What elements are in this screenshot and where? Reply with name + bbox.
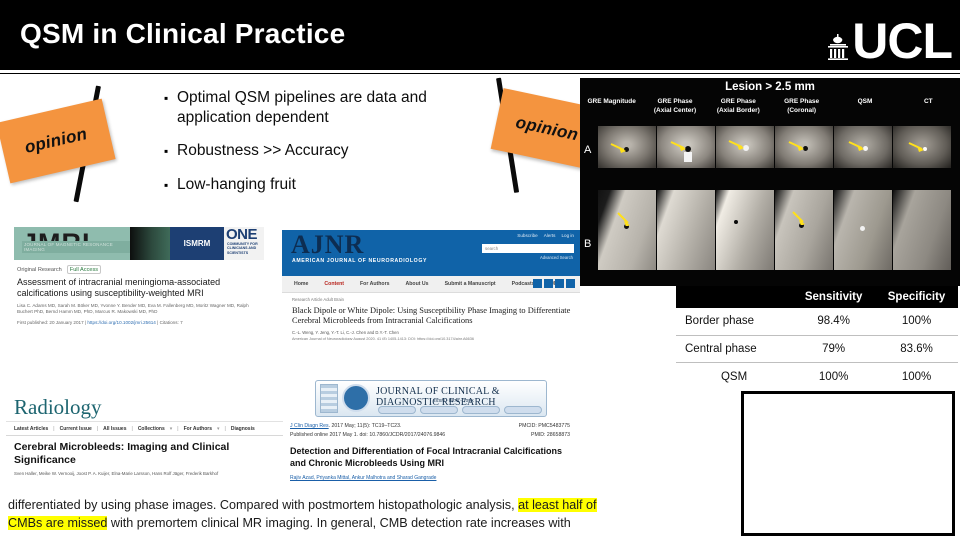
alerts-link[interactable]: Alerts (544, 233, 556, 238)
highlighted-abstract-text: differentiated by using phase images. Co… (8, 496, 598, 532)
sensitivity-specificity-table: Sensitivity Specificity Border phase 98.… (676, 286, 958, 390)
jcdr-doi-link[interactable]: 10.7860/JCDR/2017/24076.9846 (369, 432, 445, 438)
list-item: ▪ Optimal QSM pipelines are data and app… (164, 88, 464, 128)
jcdr-article-screenshot: JOURNAL OF CLINICAL & DIAGNOSTIC RESEARC… (288, 378, 574, 482)
jcdr-publication-row: Published online 2017 May 1. doi: 10.786… (288, 429, 574, 438)
cell-specificity: 83.6% (875, 335, 958, 362)
ucl-portico-icon (827, 34, 849, 60)
cell-specificity: 100% (875, 363, 958, 390)
ajnr-article-screenshot: AJNR AMERICAN JOURNAL OF NEURORADIOLOGY … (282, 230, 580, 340)
jcdr-citation-row: J Clin Diagn Res. 2017 May; 11(5): TC19–… (288, 417, 574, 429)
table-row: QSM 100% 100% (676, 363, 958, 390)
mri-image-cell (893, 126, 951, 168)
jcdr-tab-submit[interactable] (504, 406, 542, 414)
jcdr-tab-bar (378, 406, 542, 414)
jcdr-globe-icon (342, 384, 370, 412)
mri-row-label-a: A (584, 144, 591, 156)
jcdr-journal-link[interactable]: J Clin Diagn Res (290, 423, 329, 429)
nav-item-for-authors[interactable]: For Authors (184, 426, 212, 432)
annotation-arrow-icon (728, 139, 746, 151)
rss-icon[interactable] (555, 279, 564, 288)
mri-figure-caption: Lesion > 2.5 mm (580, 81, 960, 93)
flag-cloth: opinion (0, 99, 116, 184)
cell-sensitivity: 100% (792, 363, 875, 390)
nav-item-submit-manuscript[interactable]: Submit a Manuscript (445, 281, 496, 287)
mri-col-header: CT (897, 98, 960, 124)
ajnr-authors: C.-L. Weng, Y. Jeng, Y.-T. Li, C.-J. Che… (282, 326, 580, 335)
table-row: Border phase 98.4% 100% (676, 308, 958, 335)
mri-image-cell (893, 190, 951, 270)
mri-row-b (598, 190, 952, 270)
nav-item-content[interactable]: Content (324, 281, 344, 287)
nav-item-collections[interactable]: Collections (138, 426, 165, 432)
nav-item-podcasts[interactable]: Podcasts (512, 281, 535, 287)
open-access-badge[interactable]: Full Access (67, 265, 101, 274)
annotation-arrow-icon (610, 142, 628, 154)
jmri-banner-gradient (130, 227, 170, 260)
ajnr-subtitle: AMERICAN JOURNAL OF NEURORADIOLOGY (292, 258, 427, 264)
one-logo: ONE COMMUNITY FOR CLINICIANS AND SCIENTI… (224, 227, 264, 260)
chevron-down-icon: ▾ (170, 426, 173, 432)
annotation-arrow-icon (848, 140, 866, 152)
facebook-icon[interactable] (544, 279, 553, 288)
mri-col-header: QSM (833, 98, 896, 124)
annotation-arrow-icon (791, 211, 807, 225)
twitter-icon[interactable] (533, 279, 542, 288)
nav-item-all-issues[interactable]: All Issues (103, 426, 126, 432)
flag-label: opinion (514, 113, 580, 146)
mri-image-cell (834, 126, 892, 168)
mri-image-cell (775, 190, 833, 270)
col-header-sensitivity: Sensitivity (792, 286, 875, 308)
radiology-wordmark: Radiology (14, 395, 102, 420)
jmri-subtitle: JOURNAL OF MAGNETIC RESONANCE IMAGING (22, 241, 130, 253)
mri-col-header: GRE Magnitude (580, 98, 643, 124)
opinion-flag-left: opinion (0, 88, 150, 203)
mri-image-cell (657, 126, 715, 168)
jcdr-tab-archive[interactable] (462, 406, 500, 414)
annotation-arrow-icon (908, 141, 926, 153)
page-title: QSM in Clinical Practice (20, 18, 345, 50)
bullet-marker-icon: ▪ (164, 88, 177, 128)
jcdr-issn: ISSN - 0973 - 709X (434, 398, 474, 403)
mri-col-header: GRE Phase(Axial Center) (643, 98, 706, 124)
breadcrumb: Research Article Adult Brain (282, 293, 580, 302)
bullet-text: Optimal QSM pipelines are data and appli… (177, 88, 464, 128)
radiology-article-screenshot: Radiology Latest Articles | Current Issu… (6, 392, 283, 482)
jcdr-citation-rest: . 2017 May; 11(5): TC19–TC23. (329, 423, 402, 429)
pmid-value[interactable]: 28658873 (547, 432, 570, 438)
col-header-blank (676, 286, 792, 308)
row-label: Border phase (676, 308, 792, 335)
flag-label: opinion (23, 124, 89, 158)
opinion-flag-right: opinion (468, 76, 598, 198)
jcdr-tab-about[interactable] (378, 406, 416, 414)
jcdr-wordmark: JOURNAL OF CLINICAL & DIAGNOSTIC RESEARC… (376, 386, 546, 408)
subscribe-link[interactable]: Subscribe (517, 233, 537, 238)
search-input[interactable]: search (482, 244, 574, 253)
mri-image-cell (834, 190, 892, 270)
abstract-part-1: differentiated by using phase images. Co… (8, 498, 518, 512)
social-icons (533, 279, 575, 288)
ajnr-nav-bar: Home Content For Authors About Us Submit… (282, 276, 580, 293)
abstract-part-2: with premortem clinical MR imaging. In g… (107, 516, 570, 530)
ajnr-wordmark: AJNR (291, 230, 364, 260)
article-type-label: Original Research (17, 267, 62, 273)
published-online-label: Published online 2017 May 1. doi: (290, 432, 368, 438)
title-bar: QSM in Clinical Practice UCL (0, 0, 960, 74)
bullet-text: Robustness >> Accuracy (177, 141, 348, 162)
jcdr-tab-current-database[interactable] (420, 406, 458, 414)
mri-row-a (598, 126, 952, 168)
mri-image-cell (775, 126, 833, 168)
empty-placeholder-box (741, 391, 955, 536)
table-header-row: Sensitivity Specificity (676, 286, 958, 308)
radiology-nav-bar: Latest Articles | Current Issue | All Is… (6, 422, 283, 436)
jmri-article-title[interactable]: Assessment of intracranial meningioma-as… (14, 274, 264, 299)
annotation-arrow-icon (788, 140, 806, 152)
ajnr-citation: American Journal of Neuroradiology Augus… (282, 335, 580, 340)
bullet-marker-icon: ▪ (164, 175, 177, 196)
jmri-doi-link[interactable]: https://doi.org/10.1002/jmri.25614 (87, 320, 155, 325)
ismrm-logo: ISMRM (170, 227, 224, 260)
jmri-meta-row: Original Research Full Access (14, 260, 264, 274)
nav-item-home[interactable]: Home (294, 281, 308, 287)
ajnr-article-title[interactable]: Black Dipole or White Dipole: Using Susc… (282, 302, 580, 326)
nav-item-diagnosis[interactable]: Diagnosis (231, 426, 255, 432)
jcdr-authors[interactable]: Rajiv Azad, Priyanka Mittal, Ankur Malho… (288, 469, 574, 481)
annotation-arrow-icon (616, 212, 632, 226)
bullet-text: Low-hanging fruit (177, 175, 296, 196)
row-label: Central phase (676, 335, 792, 362)
pmcid-label: PMCID: (519, 423, 537, 429)
jmri-publication-info: First published: 20 January 2017 | https… (14, 315, 264, 325)
title-underline (0, 70, 960, 73)
jmri-banner: JMRI JOURNAL OF MAGNETIC RESONANCE IMAGI… (14, 227, 264, 260)
radiology-authors: Sven Haller, Meike W. Vernooij, Joost P.… (6, 466, 283, 477)
mri-image-cell (716, 126, 774, 168)
list-item: ▪ Low-hanging fruit (164, 175, 464, 196)
mri-image-cell (598, 190, 656, 270)
nav-item-for-authors[interactable]: For Authors (360, 281, 390, 287)
mri-col-header: GRE Phase(Coronal) (770, 98, 833, 124)
jcdr-logo-banner: JOURNAL OF CLINICAL & DIAGNOSTIC RESEARC… (315, 380, 547, 417)
col-header-specificity: Specificity (875, 286, 958, 308)
row-label: QSM (676, 363, 792, 390)
ajnr-banner: AJNR AMERICAN JOURNAL OF NEURORADIOLOGY … (282, 230, 580, 276)
nav-item-latest-articles[interactable]: Latest Articles (14, 426, 48, 432)
pmcid-value: PMC5483775 (538, 423, 570, 429)
cell-sensitivity: 79% (792, 335, 875, 362)
ucl-wordmark: UCL (852, 18, 952, 64)
slide-canvas: QSM in Clinical Practice UCL ▪ Optimal Q… (0, 0, 960, 540)
ucl-logo: UCL (827, 10, 952, 64)
mri-image-cell (598, 126, 656, 168)
login-link[interactable]: Log in (561, 233, 574, 238)
jcdr-filmstrip-icon (320, 384, 338, 413)
jmri-article-screenshot: JMRI JOURNAL OF MAGNETIC RESONANCE IMAGI… (14, 227, 264, 333)
mail-icon[interactable] (566, 279, 575, 288)
jcdr-article-title[interactable]: Detection and Differentiation of Focal I… (288, 438, 574, 469)
chevron-down-icon: ▾ (217, 426, 220, 432)
mri-column-headers: GRE Magnitude GRE Phase(Axial Center) GR… (580, 98, 960, 124)
cell-specificity: 100% (875, 308, 958, 335)
one-tagline: COMMUNITY FOR CLINICIANS AND SCIENTISTS (227, 242, 264, 255)
mri-figure-panel: Lesion > 2.5 mm GRE Magnitude GRE Phase(… (580, 78, 960, 286)
mri-image-cell (657, 190, 715, 270)
bullet-marker-icon: ▪ (164, 141, 177, 162)
bullet-list: ▪ Optimal QSM pipelines are data and app… (164, 88, 464, 209)
nav-item-about-us[interactable]: About Us (406, 281, 429, 287)
jmri-logo: JMRI JOURNAL OF MAGNETIC RESONANCE IMAGI… (14, 227, 130, 260)
mri-col-header: GRE Phase(Axial Border) (707, 98, 770, 124)
radiology-banner: Radiology (6, 392, 283, 422)
jmri-published-date: First published: 20 January 2017 (17, 320, 84, 325)
jmri-authors: Lisa C. Adams MD, Sarah M. Böker MD, Yvo… (14, 299, 264, 315)
table-row: Central phase 79% 83.6% (676, 335, 958, 362)
nav-item-current-issue[interactable]: Current Issue (60, 426, 92, 432)
ajnr-top-links: Subscribe Alerts Log in (517, 233, 574, 238)
annotation-arrow-icon (670, 140, 688, 152)
one-wordmark: ONE (226, 227, 257, 243)
pmid-label: PMID: (531, 432, 545, 438)
radiology-article-title[interactable]: Cerebral Microbleeds: Imaging and Clinic… (6, 436, 283, 466)
cell-sensitivity: 98.4% (792, 308, 875, 335)
mri-image-cell (716, 190, 774, 270)
jmri-citations: Citations: 7 (160, 320, 183, 325)
mri-row-label-b: B (584, 238, 591, 250)
advanced-search-link[interactable]: Advanced Search (540, 255, 573, 260)
list-item: ▪ Robustness >> Accuracy (164, 141, 464, 162)
